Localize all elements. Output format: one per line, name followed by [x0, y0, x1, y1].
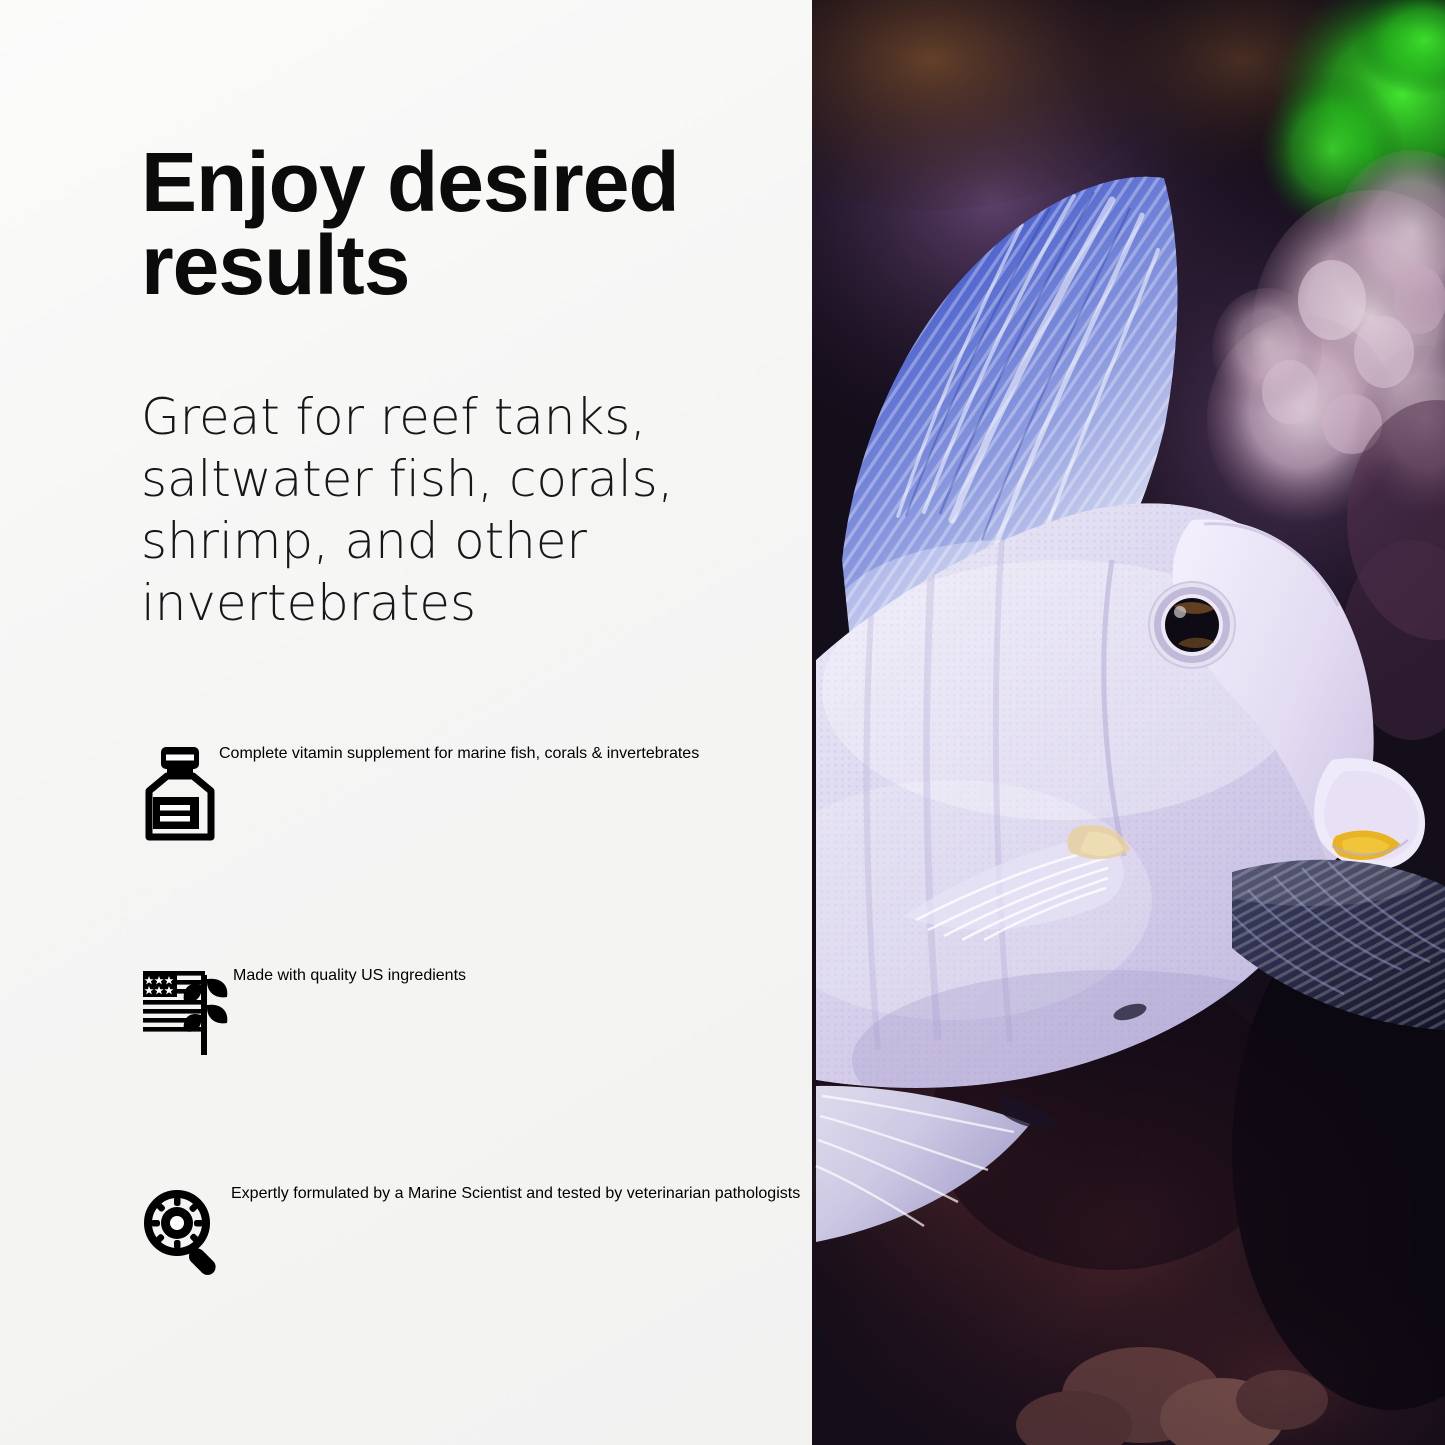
- feature-item-expert-formulation: Expertly formulated by a Marine Scientis…: [141, 1185, 801, 1282]
- supplement-bottle-icon: [141, 745, 219, 846]
- feature-text-expert-formulation: Expertly formulated by a Marine Scientis…: [231, 1185, 800, 1282]
- product-feature-graphic: Enjoy desired results Great for reef tan…: [0, 0, 1445, 1445]
- page-title: Enjoy desired results: [141, 141, 801, 307]
- magnifier-microbe-icon: [141, 1185, 231, 1282]
- subheading-text: Great for reef tanks, saltwater fish, co…: [141, 386, 761, 634]
- usa-flag-plant-icon: [141, 967, 233, 1062]
- feature-item-supplement: Complete vitamin supplement for marine f…: [141, 745, 801, 846]
- feature-text-supplement: Complete vitamin supplement for marine f…: [219, 745, 699, 846]
- left-text-panel: Enjoy desired results Great for reef tan…: [0, 0, 812, 1445]
- fish-reef-photo: [812, 0, 1445, 1445]
- feature-item-us-ingredients: Made with quality US ingredients: [141, 967, 801, 1062]
- feature-text-us-ingredients: Made with quality US ingredients: [233, 967, 466, 1062]
